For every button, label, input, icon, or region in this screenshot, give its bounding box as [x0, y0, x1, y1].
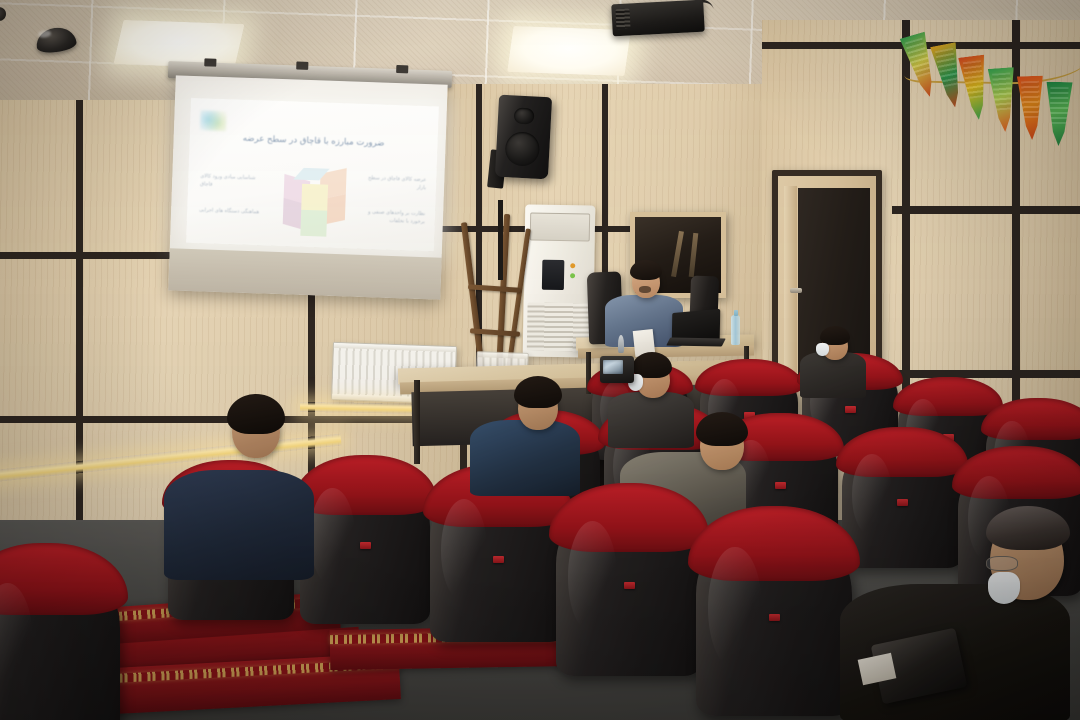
face-mask [816, 343, 829, 356]
ceiling-projector [611, 0, 705, 36]
door-handle-icon[interactable] [790, 288, 802, 293]
air-conditioner[interactable] [523, 204, 596, 357]
desk-leg [414, 380, 420, 464]
water-bottle [731, 315, 740, 345]
laptop-keyboard[interactable] [666, 338, 726, 347]
slide-note-right-2: نظارت بر واحدهای صنفی و برخورد با تخلفات [359, 208, 426, 227]
cube-diagram [282, 169, 346, 233]
eyeglasses-icon [986, 556, 1018, 571]
speaker-tweeter [514, 107, 535, 124]
camera-lcd-screen [603, 360, 623, 374]
speaker-woofer [505, 131, 541, 167]
ac-led-indicator [570, 263, 575, 268]
auditorium-seat[interactable] [0, 556, 120, 720]
ac-display-panel[interactable] [542, 260, 565, 290]
door-edge [784, 186, 797, 380]
slide-note-right-1: عرضه کالای قاچاق در سطح بازار [360, 174, 427, 193]
attendee-hair [696, 412, 748, 446]
auditorium-seat[interactable] [430, 476, 566, 642]
auditorium-seat[interactable] [842, 436, 962, 568]
presenter-hair [630, 260, 662, 280]
auditorium-seat[interactable] [696, 520, 852, 716]
slide-title: ضرورت مبارزه با قاچاق در سطح عرضه [190, 132, 438, 151]
projection-screen: ضرورت مبارزه با قاچاق در سطح عرضه عرضه ک… [168, 75, 447, 299]
mic-stand-pole [498, 200, 503, 280]
ac-led-indicator [570, 273, 575, 278]
slide-logo [200, 110, 227, 131]
wall-speaker [495, 95, 552, 180]
auditorium-seat[interactable] [300, 466, 430, 624]
attendee-hair [514, 376, 562, 408]
projected-slide: ضرورت مبارزه با قاچاق در سطح عرضه عرضه ک… [186, 98, 439, 252]
ac-intake-grill [530, 212, 590, 241]
conference-room-photo: ضرورت مبارزه با قاچاق در سطح عرضه عرضه ک… [0, 0, 1080, 720]
slide-note-left-2: هماهنگی دستگاه های اجرایی [199, 206, 265, 217]
video-camera[interactable] [600, 356, 634, 383]
auditorium-seat[interactable] [556, 496, 702, 676]
presenter-beard [639, 286, 651, 293]
face-mask [988, 572, 1020, 604]
slide-note-left-1: شناسایی مبادی ورود کالای قاچاق [200, 172, 267, 191]
